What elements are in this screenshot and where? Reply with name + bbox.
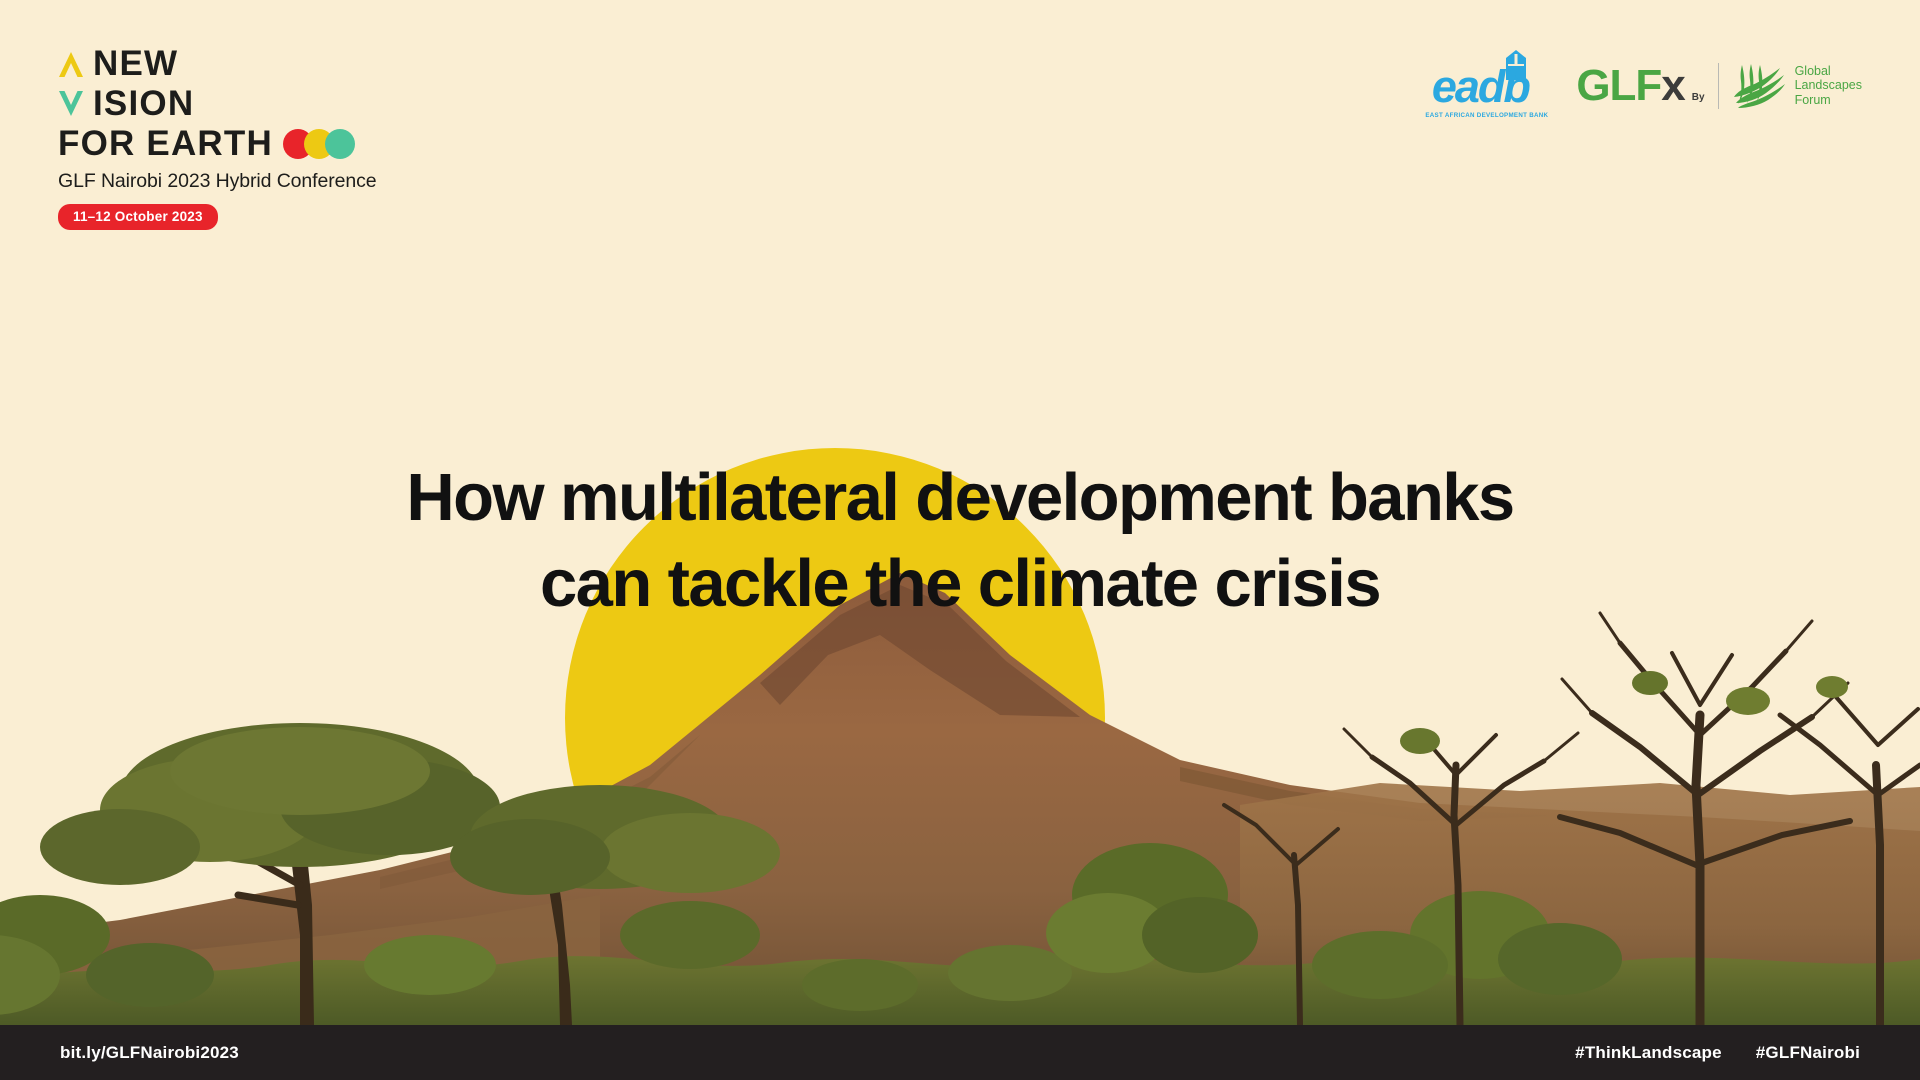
logo-line-a-new: NEW: [58, 45, 377, 83]
bare-tree-right-3: [1780, 697, 1920, 1025]
glf-lockup: Global Landscapes Forum: [1732, 63, 1862, 109]
shrub-cluster-right: [1046, 843, 1622, 999]
footer-hashtags: #ThinkLandscape #GLFNairobi: [1575, 1043, 1860, 1063]
conference-date-badge: 11–12 October 2023: [58, 204, 218, 230]
conference-logo: NEW ISION FOR EARTH GLF Nairobi 2023 Hyb…: [58, 45, 377, 230]
glfx-wordmark: GLFx: [1576, 64, 1684, 108]
partner-logos: eadb EAST AFRICAN DEVELOPMENT BANK GLFx …: [1425, 52, 1862, 119]
foreground-scrub: [0, 956, 1920, 1025]
glfx-glf-text: GLF: [1576, 61, 1661, 110]
chevron-up-icon: [58, 49, 84, 79]
glf-name-line-1: Global: [1795, 64, 1831, 78]
bare-tree-right-2: [1344, 729, 1578, 1025]
hashtag-glfnairobi[interactable]: #GLFNairobi: [1756, 1043, 1860, 1063]
logo-word-new: NEW: [93, 49, 178, 79]
glfx-x-text: x: [1661, 61, 1684, 110]
glfx-by-label: By: [1692, 92, 1705, 103]
logo-divider: [1718, 63, 1719, 109]
acacia-tree-left: [40, 723, 500, 1025]
bare-tree-right-4: [1224, 805, 1338, 1025]
headline-line-2: can tackle the climate crisis: [180, 541, 1740, 627]
shrub-cluster-left-edge: [0, 895, 214, 1015]
eadb-mark: eadb: [1432, 52, 1542, 110]
poster-canvas: NEW ISION FOR EARTH GLF Nairobi 2023 Hyb…: [0, 0, 1920, 1080]
hill-shadow-right: [1180, 767, 1560, 821]
chevron-down-icon: [58, 89, 84, 119]
branch-foliage-right: [1400, 671, 1848, 754]
glf-leaf-icon: [1732, 63, 1786, 109]
dot-green-icon: [325, 129, 355, 159]
footer-bar: bit.ly/GLFNairobi2023 #ThinkLandscape #G…: [0, 1025, 1920, 1080]
footer-url-link[interactable]: bit.ly/GLFNairobi2023: [60, 1043, 239, 1063]
hill-left: [0, 895, 600, 1025]
page-title: How multilateral development banks can t…: [0, 455, 1920, 627]
logo-word-vision: ISION: [93, 89, 194, 119]
headline-line-1: How multilateral development banks: [180, 455, 1740, 541]
glf-name-line-3: Forum: [1795, 93, 1831, 107]
logo-dots-graphic: [283, 129, 355, 159]
eadb-logo[interactable]: eadb EAST AFRICAN DEVELOPMENT BANK: [1425, 52, 1548, 119]
logo-line-vision: ISION: [58, 85, 377, 123]
eadb-wordmark: eadb: [1432, 64, 1529, 110]
logo-line-for-earth: FOR EARTH: [58, 125, 377, 163]
eadb-tagline: EAST AFRICAN DEVELOPMENT BANK: [1425, 112, 1548, 119]
bare-tree-right-1: [1560, 613, 1850, 1025]
logo-word-for-earth: FOR EARTH: [58, 129, 273, 159]
glfx-logo[interactable]: GLFx By Global Landscapes: [1576, 63, 1862, 109]
conference-subtitle: GLF Nairobi 2023 Hybrid Conference: [58, 170, 377, 193]
hashtag-thinklandscape[interactable]: #ThinkLandscape: [1575, 1043, 1722, 1063]
glf-name-line-2: Landscapes: [1795, 78, 1862, 92]
glf-forum-name: Global Landscapes Forum: [1795, 64, 1862, 108]
hill-right: [1240, 783, 1920, 1025]
